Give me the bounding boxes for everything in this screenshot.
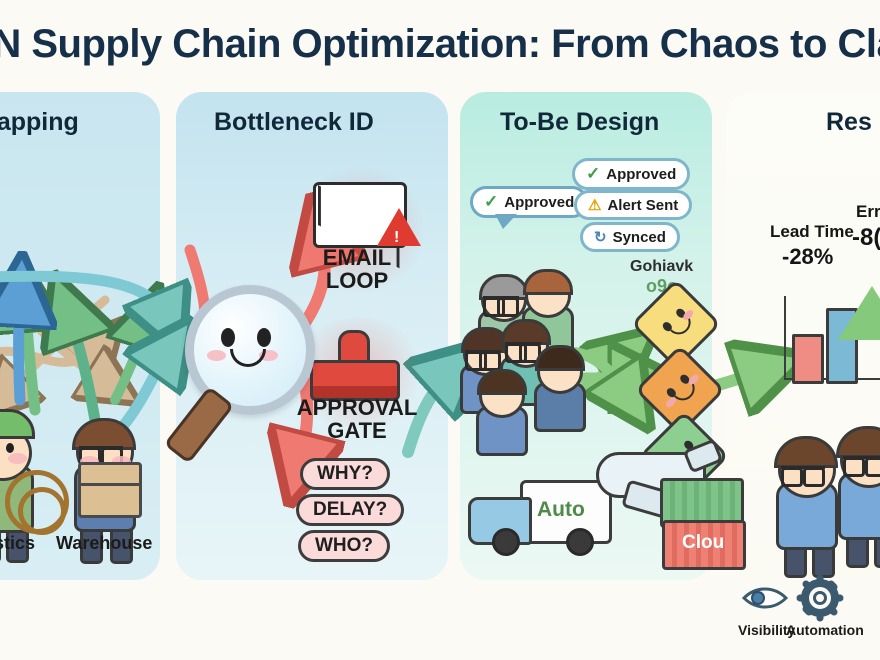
label-logistics: gistics xyxy=(0,533,35,554)
question-pill-delay: DELAY? xyxy=(296,494,404,526)
trend-up-arrow-icon xyxy=(838,286,880,340)
metric-label-errors: Err xyxy=(856,202,880,222)
chart-bar-1 xyxy=(792,334,824,384)
truck-label-auto: Auto xyxy=(537,498,585,522)
warning-exclamation: ! xyxy=(394,229,399,247)
question-pill-who: WHO? xyxy=(298,530,390,562)
badge-synced-label: Synced xyxy=(613,229,666,246)
question-pill-why: WHY? xyxy=(300,458,390,490)
gear-icon xyxy=(800,578,840,618)
metric-value-errors: -8( xyxy=(852,224,880,252)
eye-icon xyxy=(744,589,786,607)
infographic-canvas: IN Supply Chain Optimization: From Chaos… xyxy=(0,0,880,660)
footer-label-automation: Automation xyxy=(786,622,864,638)
chart-y-axis xyxy=(784,296,786,380)
callout-email-loop: EMAIL LOOP xyxy=(296,246,418,292)
panel-title-to-be-design: To-Be Design xyxy=(500,108,659,137)
garbled-text-line1: Gohiavk xyxy=(630,258,693,276)
metric-value-lead-time: -28% xyxy=(782,244,833,270)
check-icon: ✓ xyxy=(484,192,498,212)
cardboard-box-icon xyxy=(78,462,142,518)
badge-alert-sent: ⚠ Alert Sent xyxy=(574,190,692,220)
badge-approved-label: Approved xyxy=(606,166,676,183)
badge-alert-sent-label: Alert Sent xyxy=(607,197,678,214)
sync-icon: ↻ xyxy=(594,228,607,246)
alert-icon: ⚠ xyxy=(588,196,601,214)
speech-bubble-approved: ✓ Approved xyxy=(470,186,588,218)
callout-approval-gate: APPROVAL GATE xyxy=(296,396,418,442)
panel-title-bottleneck: Bottleneck ID xyxy=(214,108,374,137)
truck-wheel-front xyxy=(492,528,520,556)
speech-bubble-approved-label: Approved xyxy=(504,194,574,211)
panel-title-mapping: Mapping xyxy=(0,108,79,137)
check-icon: ✓ xyxy=(586,164,600,184)
tangled-rope-inner-icon xyxy=(18,487,66,535)
label-warehouse: Warehouse xyxy=(56,533,152,554)
metric-label-lead-time: Lead Time xyxy=(770,222,854,242)
page-title: IN Supply Chain Optimization: From Chaos… xyxy=(0,22,880,67)
badge-approved: ✓ Approved xyxy=(572,158,690,190)
badge-synced: ↻ Synced xyxy=(580,222,680,252)
container-label-cloud: Clou xyxy=(682,532,724,554)
panel-title-results: Res xyxy=(826,108,872,137)
truck-wheel-rear xyxy=(566,528,594,556)
